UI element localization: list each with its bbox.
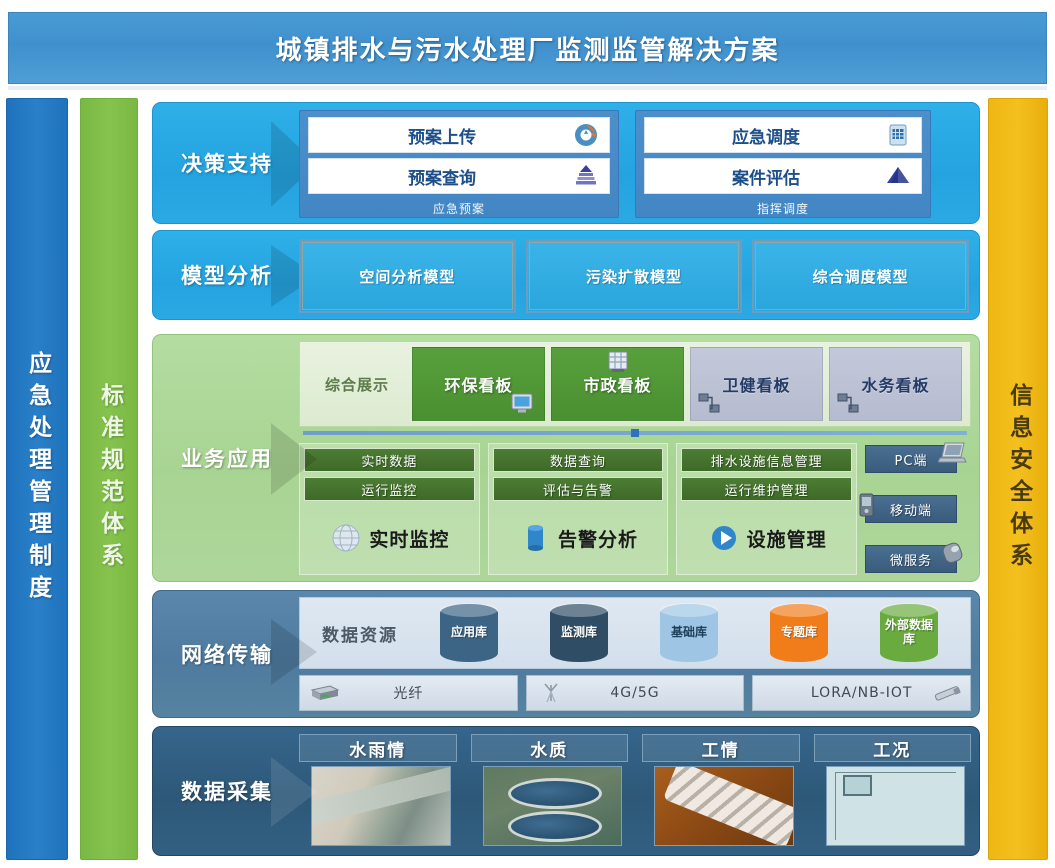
model-box-row: 空间分析模型 污染扩散模型 综合调度模型 <box>299 239 969 313</box>
acquisition-rainfall-label: 水雨情 <box>299 734 457 762</box>
section-model-analysis: 模型分析 空间分析模型 污染扩散模型 综合调度模型 <box>152 230 980 320</box>
acquisition-card-operating-condition[interactable]: 工况 <box>814 734 972 850</box>
decision-item-case-assessment-label: 案件评估 <box>645 164 921 189</box>
decision-item-emergency-dispatch[interactable]: 应急调度 <box>644 117 922 153</box>
pipeline-trench-photo <box>654 766 794 846</box>
decision-item-plan-query-label: 预案查询 <box>309 164 609 189</box>
transmission-fiber[interactable]: 光纤 <box>299 675 518 711</box>
transmission-lora-label: LORA/NB-IOT <box>811 685 913 701</box>
mobile-phone-icon <box>852 492 882 518</box>
model-box-spatial[interactable]: 空间分析模型 <box>299 239 516 313</box>
transmission-cellular[interactable]: 4G/5G <box>526 675 745 711</box>
calendar-grid-icon <box>885 122 911 148</box>
acquisition-card-rainfall[interactable]: 水雨情 <box>299 734 457 850</box>
acquisition-card-project-status[interactable]: 工情 <box>642 734 800 850</box>
acquisition-operating-condition-label: 工况 <box>814 734 972 762</box>
decision-group-emergency-plan-label: 应急预案 <box>308 199 610 217</box>
sidebar-standard-system: 标准规范体系 <box>80 98 138 860</box>
sidebar-emergency-label: 应急处理管理制度 <box>24 351 49 607</box>
transmission-lora-nbiot[interactable]: LORA/NB-IOT <box>752 675 971 711</box>
client-microservice-label: 微服务 <box>890 550 932 569</box>
laptop-icon <box>938 440 968 466</box>
business-column-monitoring: 实时数据 运行监控 实时监控 <box>299 443 480 575</box>
recycle-cycle-icon <box>573 122 599 148</box>
section-decision-support: 决策支持 预案上传 预案查询 <box>152 102 980 224</box>
section-network-label: 网络传输 <box>153 591 301 717</box>
network-node-icon <box>697 391 721 415</box>
antenna-icon <box>535 682 567 704</box>
decision-item-plan-upload-label: 预案上传 <box>309 123 609 148</box>
diagram-root: 城镇排水与污水处理厂监测监管解决方案 应急处理管理制度 标准规范体系 信息安全体… <box>0 0 1055 868</box>
board-municipal[interactable]: 市政看板 <box>551 347 684 421</box>
section-model-label: 模型分析 <box>153 231 301 319</box>
decision-item-case-assessment[interactable]: 案件评估 <box>644 158 922 194</box>
building-window-icon <box>606 350 630 374</box>
acquisition-card-water-quality[interactable]: 水质 <box>471 734 629 850</box>
model-box-dispatch[interactable]: 综合调度模型 <box>752 239 969 313</box>
page-title: 城镇排水与污水处理厂监测监管解决方案 <box>275 30 779 67</box>
monitor-icon <box>510 391 534 415</box>
business-feature-realtime-monitoring-label: 实时监控 <box>369 525 449 552</box>
database-application[interactable]: 应用库 <box>440 604 498 662</box>
transmission-fiber-label: 光纤 <box>393 683 423 703</box>
business-section-divider <box>303 431 967 435</box>
board-environment[interactable]: 环保看板 <box>412 347 545 421</box>
business-feature-facility-management[interactable]: 设施管理 <box>681 506 852 570</box>
model-box-pollution[interactable]: 污染扩散模型 <box>526 239 743 313</box>
sidebar-standard-label: 标准规范体系 <box>96 383 121 575</box>
decision-group-command-dispatch: 应急调度 案件评估 <box>635 110 931 218</box>
business-btn-operation-maintenance[interactable]: 运行维护管理 <box>681 477 852 501</box>
decision-group-command-dispatch-label: 指挥调度 <box>644 199 922 217</box>
board-municipal-label: 市政看板 <box>583 372 651 396</box>
section-decision-label: 决策支持 <box>153 103 301 223</box>
client-mobile-button[interactable]: 移动端 <box>865 495 957 523</box>
business-display-title: 综合展示 <box>305 347 409 421</box>
business-column-row: 实时数据 运行监控 实时监控 数据查询 <box>299 443 971 575</box>
decision-item-plan-upload[interactable]: 预案上传 <box>308 117 610 153</box>
sensor-probe-icon <box>932 682 964 704</box>
decision-item-emergency-dispatch-label: 应急调度 <box>645 123 921 148</box>
acquisition-project-status-label: 工情 <box>642 734 800 762</box>
board-health-label: 卫健看板 <box>722 372 790 396</box>
transmission-cellular-label: 4G/5G <box>610 685 659 701</box>
feature-phone-icon <box>938 540 968 566</box>
canal-waterway-photo <box>311 766 451 846</box>
pyramid-3d-icon <box>885 163 911 189</box>
database-cylinder-icon <box>518 521 552 555</box>
page-title-banner: 城镇排水与污水处理厂监测监管解决方案 <box>8 12 1047 84</box>
business-btn-realtime-data[interactable]: 实时数据 <box>304 448 475 472</box>
transmission-link-row: 光纤 4G/5G LORA/NB-IOT <box>299 675 971 711</box>
business-client-column: PC端 移动端 <box>865 443 971 575</box>
play-circle-icon <box>707 521 741 555</box>
data-resource-panel: 数据资源 应用库 监测库 基础库 专题库 外部数据库 <box>299 597 971 669</box>
database-foundation[interactable]: 基础库 <box>660 604 718 662</box>
database-external[interactable]: 外部数据库 <box>880 604 938 662</box>
decision-item-plan-query[interactable]: 预案查询 <box>308 158 610 194</box>
client-microservice-button[interactable]: 微服务 <box>865 545 957 573</box>
sidebar-security-label: 信息安全体系 <box>1005 383 1030 575</box>
business-feature-alarm-analysis-label: 告警分析 <box>558 525 638 552</box>
title-divider <box>8 86 1047 90</box>
acquisition-card-row: 水雨情 水质 工情 工况 <box>299 734 971 850</box>
section-business-application: 业务应用 综合展示 环保看板 市政看板 <box>152 334 980 582</box>
business-dashboard-row: 综合展示 环保看板 市政看板 <box>299 341 971 427</box>
network-node-icon <box>836 391 860 415</box>
business-column-alarm: 数据查询 评估与告警 告警分析 <box>488 443 669 575</box>
client-pc-label: PC端 <box>895 450 928 469</box>
data-resource-title: 数据资源 <box>306 621 414 646</box>
database-cylinder-row: 应用库 监测库 基础库 专题库 外部数据库 <box>414 604 964 662</box>
globe-icon <box>329 521 363 555</box>
business-btn-assessment-alarm[interactable]: 评估与告警 <box>493 477 664 501</box>
business-feature-realtime-monitoring[interactable]: 实时监控 <box>304 506 475 570</box>
database-monitoring[interactable]: 监测库 <box>550 604 608 662</box>
business-feature-alarm-analysis[interactable]: 告警分析 <box>493 506 664 570</box>
board-environment-label: 环保看板 <box>444 372 512 396</box>
acquisition-water-quality-label: 水质 <box>471 734 629 762</box>
treatment-basins-photo <box>483 766 623 846</box>
business-column-facility: 排水设施信息管理 运行维护管理 设施管理 <box>676 443 857 575</box>
sidebar-information-security: 信息安全体系 <box>988 98 1048 860</box>
board-health[interactable]: 卫健看板 <box>690 347 823 421</box>
section-business-label: 业务应用 <box>153 335 301 581</box>
business-feature-facility-management-label: 设施管理 <box>747 525 827 552</box>
section-acquire-label: 数据采集 <box>153 727 301 855</box>
decision-group-emergency-plan: 预案上传 预案查询 <box>299 110 619 218</box>
business-btn-operation-monitor[interactable]: 运行监控 <box>304 477 475 501</box>
board-water-affairs[interactable]: 水务看板 <box>829 347 962 421</box>
section-network-transmission: 网络传输 数据资源 应用库 监测库 基础库 专题库 外部数据库 <box>152 590 980 718</box>
section-data-acquisition: 数据采集 水雨情 水质 工情 工况 <box>152 726 980 856</box>
business-btn-data-query[interactable]: 数据查询 <box>493 448 664 472</box>
sidebar-emergency-management: 应急处理管理制度 <box>6 98 68 860</box>
client-pc-button[interactable]: PC端 <box>865 445 957 473</box>
pyramid-layers-icon <box>573 163 599 189</box>
client-mobile-label: 移动端 <box>890 500 932 519</box>
scada-schematic-photo <box>826 766 966 846</box>
database-thematic[interactable]: 专题库 <box>770 604 828 662</box>
business-btn-drainage-facility-info[interactable]: 排水设施信息管理 <box>681 448 852 472</box>
fiber-device-icon <box>308 682 340 704</box>
board-water-affairs-label: 水务看板 <box>861 372 929 396</box>
layer-stack: 决策支持 预案上传 预案查询 <box>152 98 980 860</box>
